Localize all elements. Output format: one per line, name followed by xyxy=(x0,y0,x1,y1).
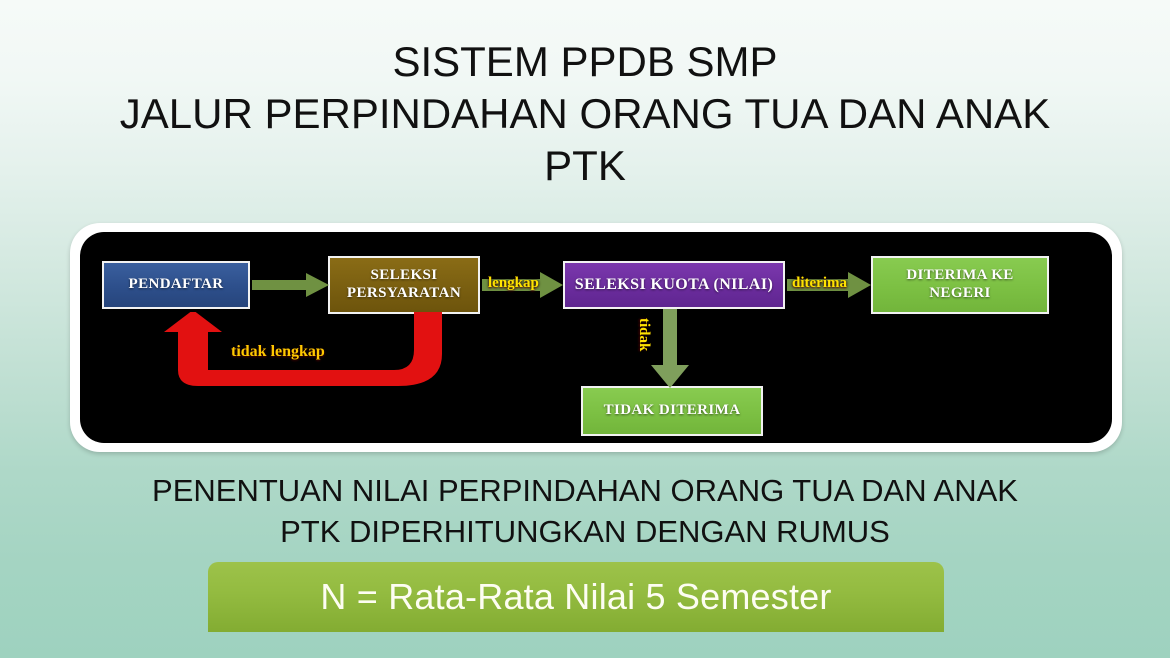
flow-node-seleksi-kuota[interactable]: SELEKSI KUOTA (NILAI) xyxy=(563,261,785,309)
seleksi-line-1: SELEKSI xyxy=(370,267,437,283)
arrow-label-tidak-lengkap: tidak lengkap xyxy=(231,343,325,361)
flow-node-seleksi-persyaratan-label: SELEKSI PERSYARATAN xyxy=(347,267,461,302)
flow-node-pendaftar[interactable]: PENDAFTAR xyxy=(102,261,250,309)
page-title: SISTEM PPDB SMP JALUR PERPINDAHAN ORANG … xyxy=(60,36,1110,192)
title-line-2: JALUR PERPINDAHAN ORANG TUA DAN ANAK xyxy=(60,88,1110,140)
flow-node-tidak-diterima-label: TIDAK DITERIMA xyxy=(604,402,741,420)
arrow-label-tidak: tidak xyxy=(635,318,652,351)
flow-node-seleksi-kuota-label: SELEKSI KUOTA (NILAI) xyxy=(575,276,773,295)
diterima-line-1: DITERIMA KE xyxy=(906,267,1013,283)
formula-banner: N = Rata-Rata Nilai 5 Semester xyxy=(208,562,944,632)
flow-node-seleksi-persyaratan[interactable]: SELEKSI PERSYARATAN xyxy=(328,256,480,314)
arrow-label-lengkap: lengkap xyxy=(488,275,539,292)
formula-text: N = Rata-Rata Nilai 5 Semester xyxy=(320,576,831,618)
diterima-line-2: NEGERI xyxy=(929,285,991,301)
flow-node-diterima-ke-negeri-label: DITERIMA KE NEGERI xyxy=(906,267,1013,302)
title-line-1: SISTEM PPDB SMP xyxy=(60,36,1110,88)
flow-node-pendaftar-label: PENDAFTAR xyxy=(129,276,224,294)
title-line-3: PTK xyxy=(60,140,1110,192)
bottom-line-1: PENENTUAN NILAI PERPINDAHAN ORANG TUA DA… xyxy=(60,470,1110,511)
arrow-pendaftar-to-seleksi-persyaratan xyxy=(252,272,330,298)
flow-node-diterima-ke-negeri[interactable]: DITERIMA KE NEGERI xyxy=(871,256,1049,314)
arrow-label-diterima: diterima xyxy=(792,275,847,292)
flowchart-frame: PENDAFTAR SELEKSI PERSYARATAN SELEKSI KU… xyxy=(70,223,1122,452)
seleksi-line-2: PERSYARATAN xyxy=(347,285,461,301)
arrow-tidak xyxy=(650,309,690,389)
bottom-description: PENENTUAN NILAI PERPINDAHAN ORANG TUA DA… xyxy=(60,470,1110,552)
bottom-line-2: PTK DIPERHITUNGKAN DENGAN RUMUS xyxy=(60,511,1110,552)
flowchart-panel: PENDAFTAR SELEKSI PERSYARATAN SELEKSI KU… xyxy=(80,232,1112,443)
flow-node-tidak-diterima[interactable]: TIDAK DITERIMA xyxy=(581,386,763,436)
slide-canvas: SISTEM PPDB SMP JALUR PERPINDAHAN ORANG … xyxy=(0,0,1170,658)
